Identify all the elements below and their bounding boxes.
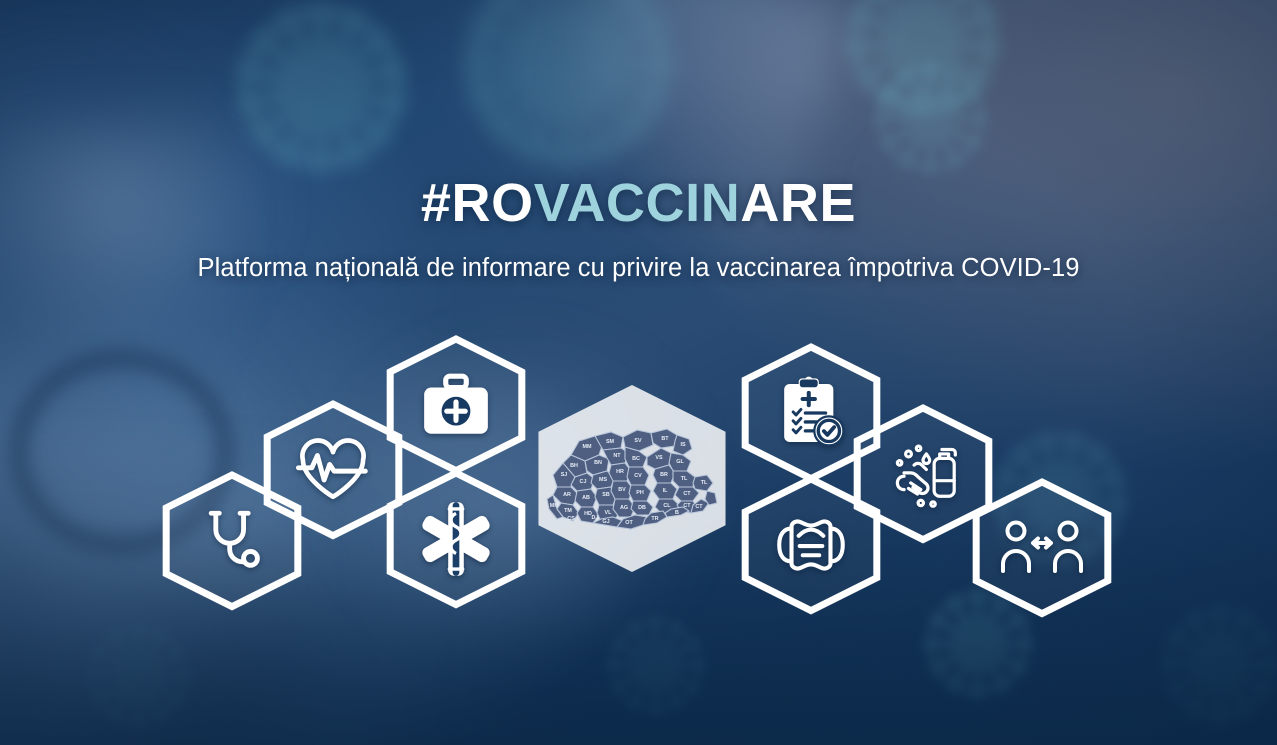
svg-text:CT: CT	[683, 491, 691, 497]
svg-text:BR: BR	[660, 472, 668, 478]
svg-text:HR: HR	[616, 469, 624, 475]
rovaccinare-hero-banner: #ROVACCINARE Platforma națională de info…	[0, 0, 1277, 745]
svg-text:CV: CV	[634, 473, 642, 479]
svg-text:CS: CS	[567, 516, 575, 522]
svg-text:IS: IS	[680, 442, 685, 448]
svg-text:BT: BT	[661, 436, 669, 442]
svg-text:BV: BV	[618, 487, 626, 493]
svg-text:DJ: DJ	[592, 515, 599, 521]
svg-text:TL: TL	[681, 476, 688, 482]
svg-text:IL: IL	[663, 488, 668, 494]
svg-text:BC: BC	[632, 456, 640, 462]
svg-text:NT: NT	[613, 453, 621, 459]
svg-text:CJ: CJ	[580, 479, 587, 485]
svg-text:CT: CT	[683, 503, 691, 509]
hexagon-romania-map[interactable]: MM SM SV BT IS BH BN NT BC VS GL SJ CJ M…	[524, 385, 740, 572]
svg-text:TM: TM	[564, 508, 572, 514]
svg-text:SJ: SJ	[561, 472, 568, 478]
svg-text:B: B	[675, 510, 679, 516]
svg-text:GL: GL	[676, 459, 684, 465]
svg-text:AB: AB	[582, 495, 590, 501]
svg-text:MS: MS	[599, 477, 607, 483]
svg-text:AR: AR	[563, 492, 571, 498]
romania-map-svg: MM SM SV BT IS BH BN NT BC VS GL SJ CJ M…	[543, 415, 721, 543]
hexagon-icon-cluster: MM SM SV BT IS BH BN NT BC VS GL SJ CJ M…	[0, 0, 1277, 745]
svg-text:MH: MH	[550, 503, 558, 509]
svg-text:CT: CT	[695, 504, 703, 510]
svg-text:SB: SB	[602, 492, 610, 498]
svg-text:VS: VS	[655, 455, 663, 461]
hexagon-star-of-life[interactable]	[380, 473, 532, 605]
hexagon-social-distancing[interactable]	[966, 482, 1118, 614]
svg-text:SM: SM	[606, 439, 615, 445]
svg-text:DB: DB	[638, 505, 646, 511]
svg-text:OT: OT	[625, 520, 633, 526]
svg-text:MM: MM	[583, 444, 592, 450]
svg-text:TL: TL	[701, 480, 708, 486]
hexagon-first-aid-kit[interactable]	[380, 339, 532, 471]
svg-text:TR: TR	[651, 516, 658, 522]
svg-text:BH: BH	[570, 463, 578, 469]
svg-text:VL: VL	[605, 510, 613, 516]
svg-text:BN: BN	[594, 460, 602, 466]
svg-text:AG: AG	[620, 505, 628, 511]
svg-text:PH: PH	[636, 490, 644, 496]
svg-text:GJ: GJ	[602, 519, 609, 525]
svg-text:CL: CL	[663, 503, 671, 509]
svg-text:SV: SV	[634, 438, 642, 444]
